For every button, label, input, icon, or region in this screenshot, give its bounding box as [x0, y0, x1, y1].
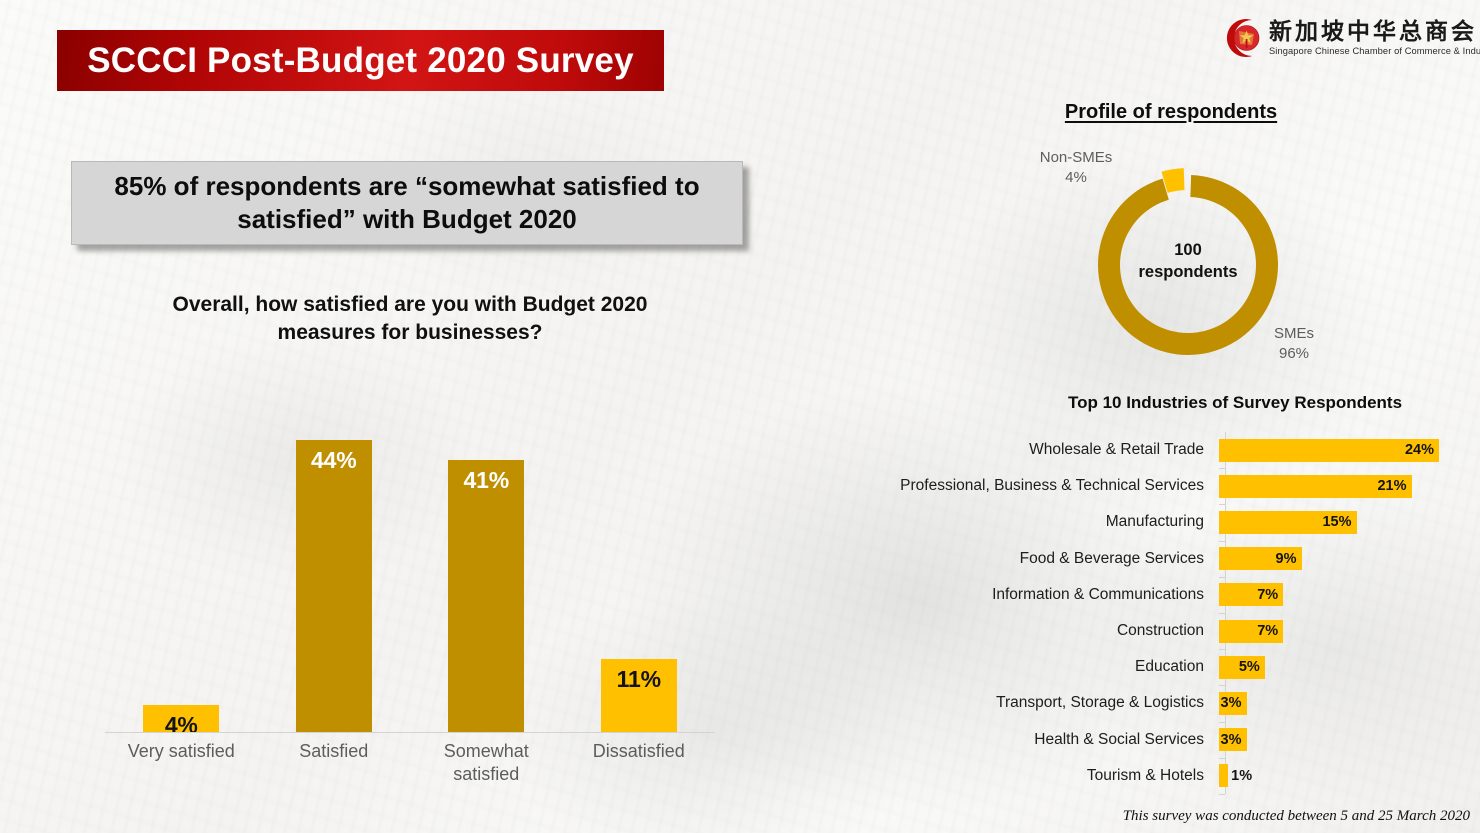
table-row: Wholesale & Retail Trade24% [836, 432, 1452, 468]
satisfaction-bar[interactable]: 11% [601, 659, 677, 732]
table-row: Health & Social Services3% [836, 722, 1452, 758]
industries-chart-title: Top 10 Industries of Survey Respondents [1000, 393, 1470, 413]
industry-bar-area: 15% [1219, 504, 1452, 540]
industry-name-label: Manufacturing [836, 513, 1219, 531]
page-title: SCCCI Post-Budget 2020 Survey [87, 41, 634, 81]
industry-bar-area: 24% [1219, 432, 1452, 468]
industry-bar-value: 9% [1276, 551, 1302, 567]
key-finding-callout: 85% of respondents are “somewhat satisfi… [71, 161, 743, 245]
industry-bar-value: 21% [1377, 478, 1411, 494]
satisfaction-category-label: Satisfied [258, 740, 411, 763]
slide-canvas: SCCCI Post-Budget 2020 Survey 新加坡中华总商会 S… [0, 0, 1480, 833]
industry-bar-area: 21% [1219, 468, 1452, 504]
industry-bar[interactable]: 7% [1219, 583, 1283, 606]
satisfaction-bar-slot: 4% [105, 400, 258, 732]
satisfaction-plot-area: 4%44%41%11% [105, 400, 715, 732]
industry-name-label: Professional, Business & Technical Servi… [836, 477, 1219, 495]
industry-bar-value: 15% [1322, 514, 1356, 530]
donut-label-non-smes-value: 4% [1024, 168, 1128, 188]
industry-bar-area: 5% [1219, 649, 1452, 685]
table-row: Construction7% [836, 613, 1452, 649]
industry-bar-area: 1% [1219, 758, 1452, 794]
table-row: Transport, Storage & Logistics3% [836, 685, 1452, 721]
table-row: Education5% [836, 649, 1452, 685]
industry-bar[interactable]: 15% [1219, 511, 1357, 534]
satisfaction-bar[interactable]: 44% [296, 440, 372, 732]
key-finding-text: 85% of respondents are “somewhat satisfi… [72, 170, 742, 237]
industry-bar[interactable]: 9% [1219, 547, 1302, 570]
industry-bar-area: 3% [1219, 685, 1452, 721]
satisfaction-bar-value: 4% [165, 712, 198, 739]
industry-bar[interactable]: 3% [1219, 692, 1247, 715]
satisfaction-bar-slot: 11% [563, 400, 716, 732]
industry-bar-value: 7% [1257, 587, 1283, 603]
respondent-count-unit: respondents [1115, 262, 1261, 284]
industries-bar-chart: Wholesale & Retail Trade24%Professional,… [836, 432, 1452, 794]
donut-label-smes-name: SMEs [1252, 324, 1336, 344]
satisfaction-bar[interactable]: 41% [448, 460, 524, 732]
satisfaction-bar-slot: 44% [258, 400, 411, 732]
industry-name-label: Construction [836, 622, 1219, 640]
industry-name-label: Wholesale & Retail Trade [836, 441, 1219, 459]
industry-bar[interactable]: 1% [1219, 764, 1228, 787]
industry-name-label: Health & Social Services [836, 731, 1219, 749]
industry-bar[interactable]: 3% [1219, 728, 1247, 751]
satisfaction-category-label: Very satisfied [105, 740, 258, 763]
industry-name-label: Information & Communications [836, 586, 1219, 604]
satisfaction-bar-value: 11% [617, 666, 661, 693]
sccci-seal-icon [1219, 15, 1265, 61]
satisfaction-bar-chart: 4%44%41%11% Very satisfiedSatisfiedSomew… [105, 400, 715, 810]
satisfaction-bar-value: 44% [311, 447, 356, 474]
industry-bar-value: 7% [1257, 623, 1283, 639]
industry-name-label: Tourism & Hotels [836, 767, 1219, 785]
survey-period-note: This survey was conducted between 5 and … [1020, 808, 1470, 825]
industry-bar[interactable]: 7% [1219, 620, 1283, 643]
industry-bar-area: 3% [1219, 722, 1452, 758]
industry-name-label: Transport, Storage & Logistics [836, 694, 1219, 712]
industry-bar-area: 9% [1219, 541, 1452, 577]
donut-label-non-smes-name: Non-SMEs [1024, 148, 1128, 168]
donut-center-label: 100 respondents [1115, 240, 1261, 284]
logo-chinese-name: 新加坡中华总商会 [1269, 20, 1480, 44]
respondent-count: 100 [1115, 240, 1261, 262]
sccci-logo: 新加坡中华总商会 Singapore Chinese Chamber of Co… [1219, 14, 1467, 62]
donut-label-smes: SMEs 96% [1252, 324, 1336, 365]
logo-english-name: Singapore Chinese Chamber of Commerce & … [1269, 46, 1480, 56]
profile-section-title: Profile of respondents [1052, 101, 1290, 124]
industry-bar[interactable]: 24% [1219, 439, 1439, 462]
industry-bar[interactable]: 21% [1219, 475, 1412, 498]
satisfaction-bar-value: 41% [464, 467, 509, 494]
industry-name-label: Food & Beverage Services [836, 550, 1219, 568]
satisfaction-question: Overall, how satisfied are you with Budg… [150, 291, 670, 347]
table-row: Professional, Business & Technical Servi… [836, 468, 1452, 504]
satisfaction-bar-slot: 41% [410, 400, 563, 732]
satisfaction-category-label: Dissatisfied [563, 740, 716, 763]
slide-title-banner: SCCCI Post-Budget 2020 Survey [57, 30, 664, 91]
table-row: Information & Communications7% [836, 577, 1452, 613]
industry-bar-value: 1% [1228, 768, 1252, 784]
industry-bar-value: 3% [1221, 732, 1247, 748]
industry-bar-value: 24% [1405, 442, 1439, 458]
industry-bar[interactable]: 5% [1219, 656, 1265, 679]
logo-text: 新加坡中华总商会 Singapore Chinese Chamber of Co… [1269, 20, 1480, 56]
satisfaction-bar[interactable]: 4% [143, 705, 219, 732]
satisfaction-category-label: Somewhat satisfied [410, 740, 563, 787]
industry-bar-area: 7% [1219, 577, 1452, 613]
satisfaction-axis-line [105, 732, 715, 733]
donut-label-non-smes: Non-SMEs 4% [1024, 148, 1128, 189]
donut-label-smes-value: 96% [1252, 344, 1336, 364]
table-row: Tourism & Hotels1% [836, 758, 1452, 794]
table-row: Manufacturing15% [836, 504, 1452, 540]
table-row: Food & Beverage Services9% [836, 541, 1452, 577]
industry-bar-value: 5% [1239, 659, 1265, 675]
industry-name-label: Education [836, 658, 1219, 676]
industry-bar-value: 3% [1221, 695, 1247, 711]
industry-bar-area: 7% [1219, 613, 1452, 649]
industries-axis-tick [1219, 794, 1225, 795]
